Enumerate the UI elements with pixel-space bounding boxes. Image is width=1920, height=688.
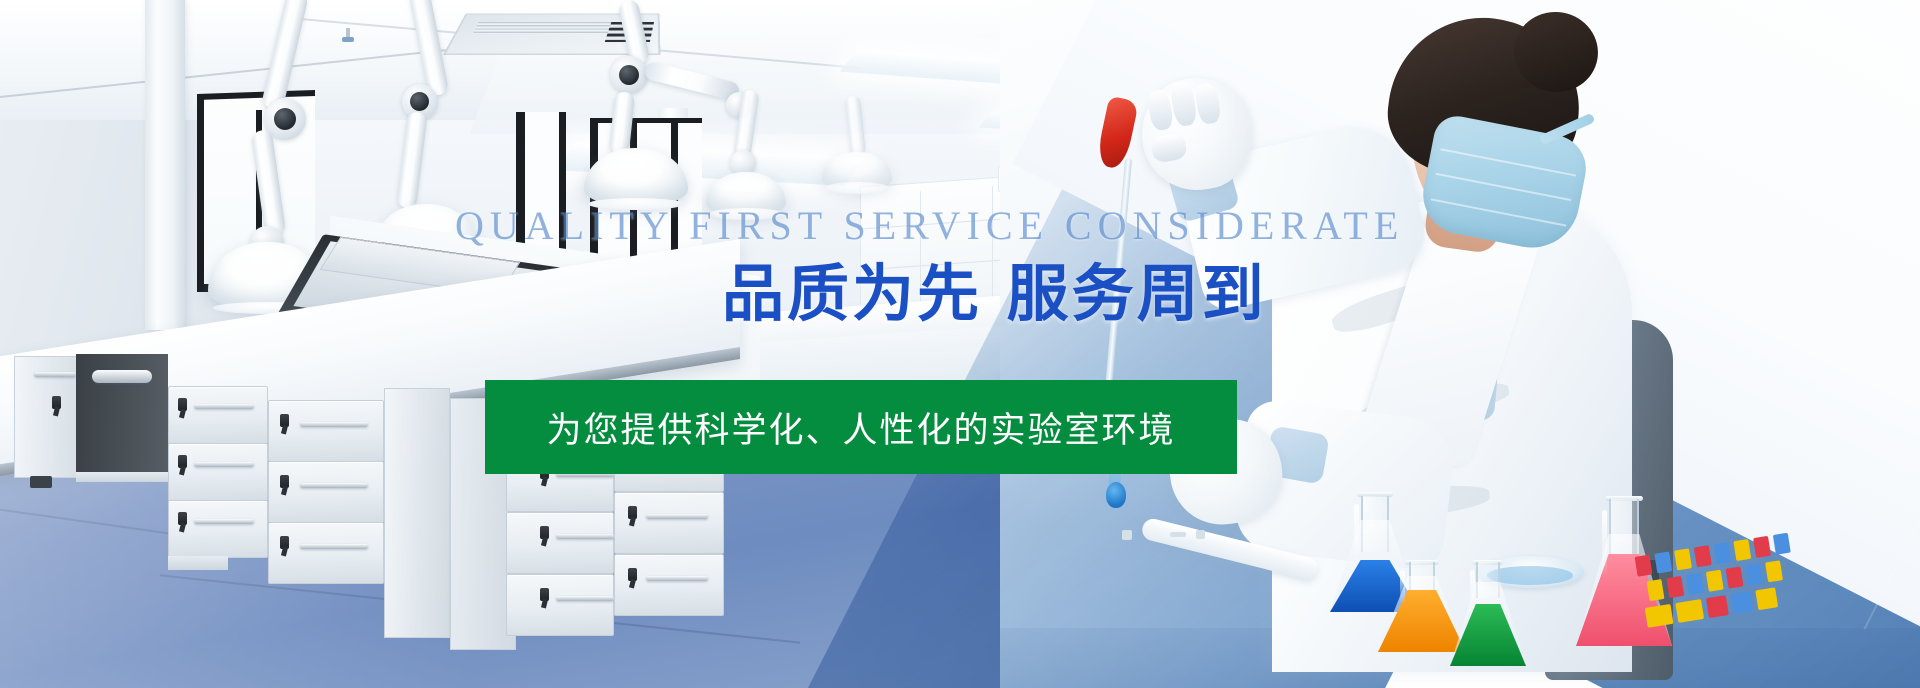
test-tube bbox=[1714, 542, 1732, 564]
cabinet-drawer bbox=[506, 512, 614, 574]
structural-column bbox=[145, 0, 185, 330]
test-tube bbox=[1731, 591, 1754, 614]
cabinet-plinth bbox=[76, 472, 172, 482]
cabinet-handle bbox=[556, 596, 614, 601]
cabinet-lock bbox=[178, 455, 187, 468]
test-tube bbox=[1706, 570, 1724, 592]
test-tube bbox=[1753, 536, 1771, 558]
cabinet-panel bbox=[384, 388, 450, 638]
small-bench-item bbox=[1122, 530, 1132, 540]
subtitle-green-bar: 为您提供科学化、人性化的实验室环境 bbox=[485, 380, 1237, 474]
sprinkler-head bbox=[344, 28, 352, 44]
cabinet-lock bbox=[280, 475, 289, 488]
test-tube bbox=[1726, 567, 1744, 589]
test-tube bbox=[1733, 539, 1751, 561]
test-tube bbox=[1773, 533, 1791, 555]
cabinet-lock bbox=[280, 536, 289, 549]
cabinet-handle bbox=[34, 372, 76, 377]
cabinet-handle bbox=[194, 519, 254, 524]
cabinet-lock bbox=[628, 568, 637, 581]
test-tube bbox=[1674, 548, 1692, 570]
english-tagline: QUALITY FIRST SERVICE CONSIDERATE bbox=[455, 202, 1404, 249]
cabinet-handle bbox=[300, 544, 368, 549]
cabinet-lock bbox=[52, 396, 61, 409]
cabinet-handle bbox=[646, 514, 708, 519]
lab-scene-photo bbox=[0, 0, 1920, 688]
cabinet-caster bbox=[30, 476, 52, 488]
test-tube bbox=[1706, 595, 1729, 618]
test-tube bbox=[1765, 560, 1783, 582]
cabinet-lock bbox=[280, 414, 289, 427]
flask-green bbox=[1450, 560, 1526, 666]
test-tube bbox=[1686, 573, 1704, 595]
cabinet-handle bbox=[300, 422, 368, 427]
small-bench-item bbox=[1170, 532, 1186, 537]
cabinet-handle bbox=[92, 370, 152, 383]
test-tube bbox=[1645, 604, 1674, 628]
headline-chinese: 品质为先 服务周到 bbox=[722, 243, 1267, 333]
cabinet-lock bbox=[178, 512, 187, 525]
cabinet-lock bbox=[178, 398, 187, 411]
cabinet-handle bbox=[194, 404, 254, 409]
test-tube bbox=[1694, 545, 1712, 567]
small-bench-item bbox=[1196, 530, 1205, 539]
test-tube bbox=[1654, 551, 1672, 573]
pipette-liquid-drop bbox=[1106, 482, 1126, 508]
cabinet-handle bbox=[556, 534, 614, 539]
test-tube bbox=[1647, 579, 1665, 601]
test-tube bbox=[1675, 599, 1704, 623]
cabinet-plinth bbox=[168, 556, 228, 570]
test-tube bbox=[1745, 563, 1763, 585]
subtitle-chinese: 为您提供科学化、人性化的实验室环境 bbox=[546, 402, 1175, 453]
cabinet-lock bbox=[540, 588, 549, 601]
lab-hero-banner: QUALITY FIRST SERVICE CONSIDERATE 品质为先 服… bbox=[0, 0, 1920, 688]
cabinet-lock bbox=[540, 526, 549, 539]
cabinet-handle bbox=[646, 576, 708, 581]
test-tube bbox=[1635, 555, 1653, 577]
cabinet-lock bbox=[628, 506, 637, 519]
cabinet-handle bbox=[194, 462, 254, 467]
cabinet-drawer bbox=[506, 574, 614, 636]
cabinet-handle bbox=[300, 483, 368, 488]
test-tube bbox=[1755, 587, 1778, 610]
test-tube bbox=[1666, 576, 1684, 598]
